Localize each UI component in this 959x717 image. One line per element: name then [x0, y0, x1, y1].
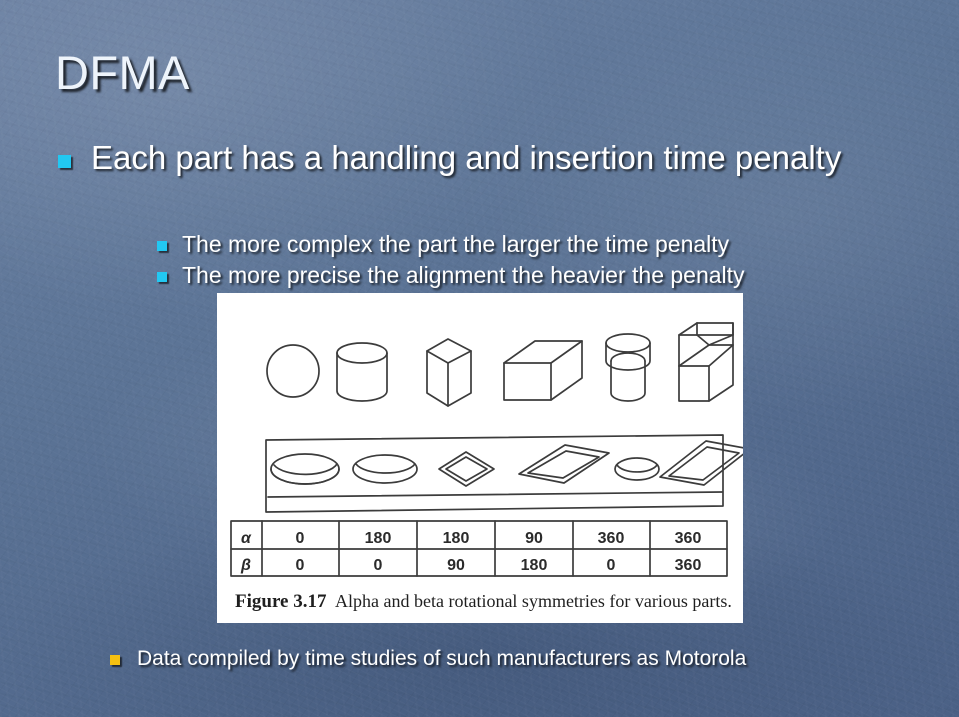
table-cell: 360 — [675, 557, 702, 574]
figure-image: α β 0 180 180 90 360 360 0 0 90 180 0 36… — [217, 293, 743, 623]
bullet-level2-label: The more precise the alignment the heavi… — [182, 261, 745, 290]
square-bullet-yellow-icon — [110, 655, 120, 665]
bullet-item-level1: Each part has a handling and insertion t… — [58, 138, 868, 178]
bullet-item-level2: The more precise the alignment the heavi… — [157, 261, 917, 290]
square-bullet-cyan-icon — [58, 155, 71, 168]
table-cell: 0 — [374, 557, 383, 574]
bullet-item-level2: The more complex the part the larger the… — [157, 230, 917, 259]
bullet-item-bottom: Data compiled by time studies of such ma… — [110, 645, 910, 672]
table-row-label-alpha: α — [241, 530, 252, 547]
bullet-level1-label: Each part has a handling and insertion t… — [91, 138, 841, 178]
square-bullet-cyan-icon — [157, 272, 167, 282]
table-cell: 0 — [607, 557, 616, 574]
table-cell: 180 — [365, 530, 392, 547]
presentation-slide: DFMA Each part has a handling and insert… — [0, 0, 959, 717]
table-cell: 180 — [443, 530, 470, 547]
figure-caption-text: Alpha and beta rotational symmetries for… — [335, 591, 732, 611]
table-cell: 0 — [296, 557, 305, 574]
table-cell: 90 — [447, 557, 465, 574]
table-cell: 360 — [675, 530, 702, 547]
bullet-level2-label: The more complex the part the larger the… — [182, 230, 729, 259]
table-cell: 90 — [525, 530, 543, 547]
square-bullet-cyan-icon — [157, 241, 167, 251]
table-row-label-beta: β — [240, 557, 251, 574]
bullet-bottom-label: Data compiled by time studies of such ma… — [137, 645, 746, 672]
figure-caption-label: Figure 3.17 — [235, 591, 327, 612]
table-cell: 180 — [521, 557, 548, 574]
table-cell: 360 — [598, 530, 625, 547]
table-cell: 0 — [296, 530, 305, 547]
page-title: DFMA — [55, 45, 190, 101]
